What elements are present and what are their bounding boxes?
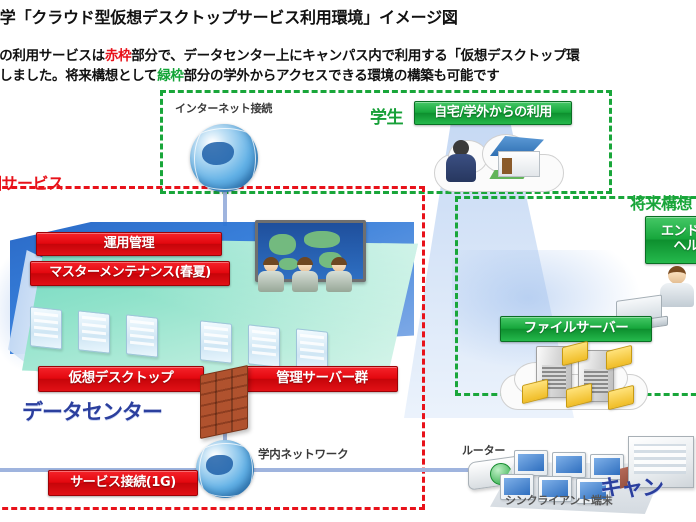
operator-hair xyxy=(297,257,313,265)
description-line2-pre: 備しました。将来構想として xyxy=(0,68,157,84)
thin-client-screen xyxy=(552,452,586,478)
home-user-avatar xyxy=(446,140,476,180)
house-icon xyxy=(488,136,546,178)
description-line2-post: 部分の学外からアクセスできる環境の構築も可能です xyxy=(184,68,500,84)
globe-parallel xyxy=(190,128,258,190)
master-maintenance-pill[interactable]: マスターメンテナンス(春夏) xyxy=(30,261,230,286)
operator-avatar xyxy=(326,258,352,292)
description-line1-post: 部分で、データセンター上にキャンパス内で利用する「仮想デスクトップ環 xyxy=(131,48,579,64)
internet-globe-icon xyxy=(190,124,258,192)
operator-hair xyxy=(263,257,279,265)
home-offcampus-use-pill[interactable]: 自宅/学外からの利用 xyxy=(414,101,572,125)
description-line1-pre: 回の利用サービスは xyxy=(0,48,105,64)
home-user-body xyxy=(446,154,476,182)
operator-avatar xyxy=(292,258,318,292)
service-connection-pill[interactable]: サービス接続(1G) xyxy=(48,470,198,496)
server-rack xyxy=(200,320,232,363)
home-user-illustration xyxy=(430,128,566,194)
future-plan-caption: 将来構想 xyxy=(630,190,692,214)
map-landmass xyxy=(304,231,340,248)
description-line-2: 備しました。将来構想として緑枠部分の学外からアクセスできる環境の構築も可能です xyxy=(0,64,696,84)
end-user-helpdesk-line1: エンドユーザー xyxy=(661,225,696,240)
thin-client-screen xyxy=(514,450,548,476)
operations-management-pill[interactable]: 運用管理 xyxy=(36,232,222,256)
campus-label: キャン xyxy=(600,470,663,502)
server-rack xyxy=(78,310,110,353)
helpdesk-head xyxy=(668,266,686,284)
operator-body xyxy=(292,271,318,292)
server-rack xyxy=(30,306,62,349)
server-rack xyxy=(248,324,280,367)
campus-network-label: 学内ネットワーク xyxy=(258,446,348,462)
operator-body xyxy=(258,271,284,292)
operator-hair xyxy=(331,257,347,265)
operator-body xyxy=(326,271,352,292)
management-servers-pill[interactable]: 管理サーバー群 xyxy=(246,366,398,392)
page-title: 大学「クラウド型仮想デスクトップサービス利用環境」イメージ図 xyxy=(0,4,696,28)
description-line2-green-keyword: 緑枠 xyxy=(157,68,183,84)
house-door xyxy=(502,158,512,174)
globe-parallel xyxy=(196,443,254,496)
end-user-helpdesk-pill[interactable]: エンドユーザー ヘルプデス xyxy=(645,216,696,264)
current-service-caption: 回サービス xyxy=(0,170,64,194)
virtual-desktop-pill[interactable]: 仮想デスクトップ xyxy=(38,366,204,392)
thin-client-label: シンクライアント端末 xyxy=(505,492,613,508)
student-caption: 学生 xyxy=(370,103,403,128)
operator-avatar xyxy=(258,258,284,292)
map-landmass xyxy=(269,234,296,255)
internet-connection-label: インターネット接続 xyxy=(175,100,272,116)
description-line1-red-keyword: 赤枠 xyxy=(105,48,131,64)
server-rack xyxy=(126,314,158,357)
file-server-illustration xyxy=(500,338,650,412)
folder-icon xyxy=(606,345,632,370)
campus-network-globe-icon xyxy=(196,440,254,498)
description-line-1: 回の利用サービスは赤枠部分で、データセンター上にキャンパス内で利用する「仮想デス… xyxy=(0,44,696,64)
end-user-helpdesk-line2: ヘルプデス xyxy=(673,240,696,255)
firewall-brick-icon xyxy=(200,365,248,439)
diagram-canvas: 大学「クラウド型仮想デスクトップサービス利用環境」イメージ図 回の利用サービスは… xyxy=(0,0,696,522)
data-center-label: データセンター xyxy=(22,396,162,426)
